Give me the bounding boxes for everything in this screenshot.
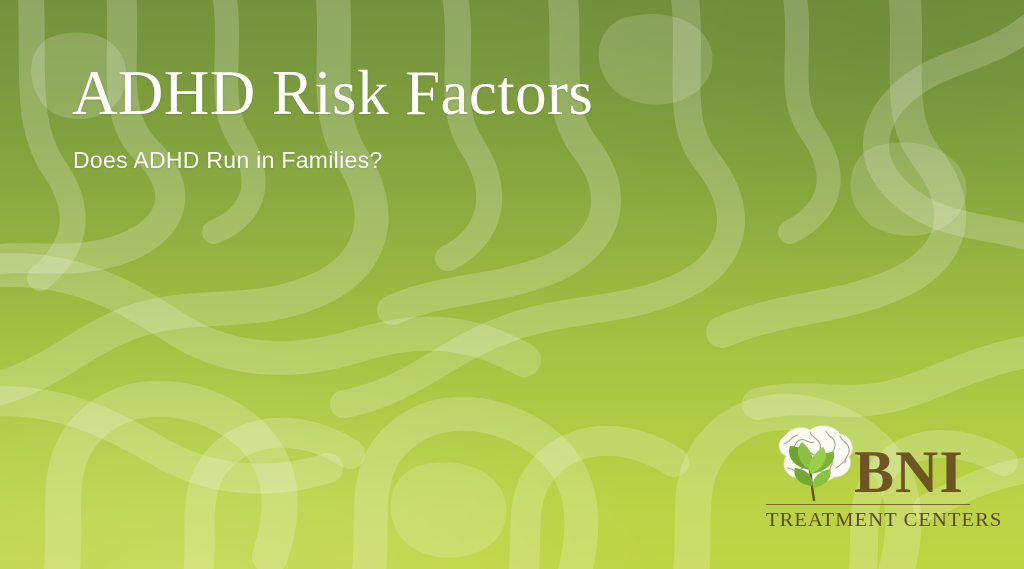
brand-logo[interactable]: BNI TREATMENT CENTERS [766, 422, 970, 534]
page-subtitle: Does ADHD Run in Families? [73, 147, 712, 175]
headline-block: ADHD Risk Factors Does ADHD Run in Famil… [72, 62, 712, 175]
brain-leaf-icon [766, 422, 858, 502]
brand-tagline: TREATMENT CENTERS [766, 509, 970, 532]
adhd-risk-factors-banner: ADHD Risk Factors Does ADHD Run in Famil… [0, 0, 1024, 569]
page-title: ADHD Risk Factors [72, 62, 712, 125]
logo-top-row: BNI [766, 422, 970, 502]
logo-divider [766, 504, 970, 505]
brand-initials: BNI [854, 445, 964, 502]
